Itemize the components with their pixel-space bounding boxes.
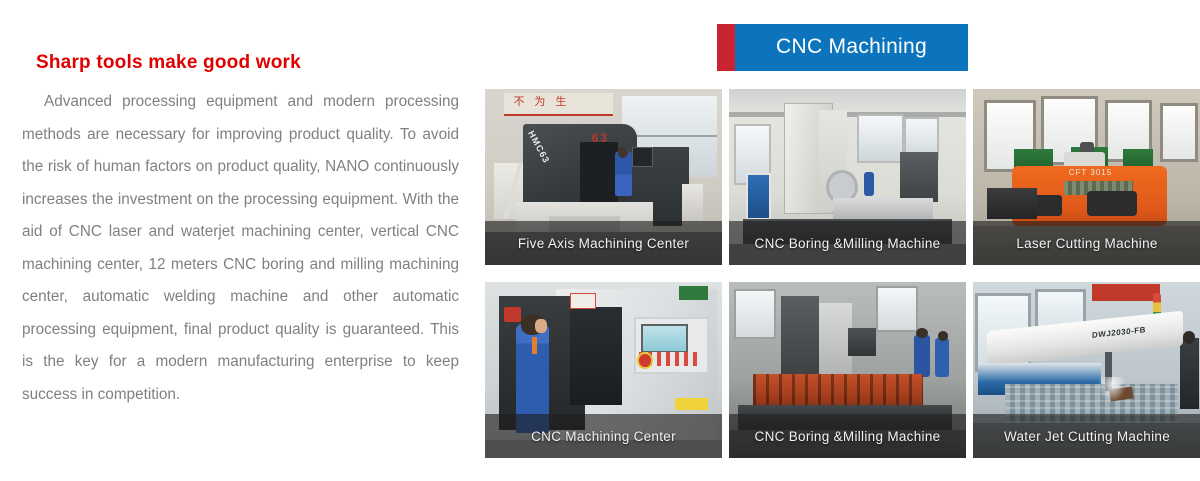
photo-caption-bar: Water Jet Cutting Machine [973,414,1200,458]
machine-photo-grid: 不为生 HMC63 63 Five Axis Machining Center [484,88,1200,459]
section-heading: Sharp tools make good work [36,50,462,76]
photo-caption: Laser Cutting Machine [1016,236,1157,251]
photo-caption: CNC Boring &Milling Machine [755,429,941,444]
photo-card-laser-cutting-machine[interactable]: CFT 3015 Laser Cutting Machine [972,88,1200,266]
photo-caption-bar: CNC Boring &Milling Machine [729,414,966,458]
banner-accent-bar [717,24,735,71]
photo-card-cnc-boring-milling-machine-1[interactable]: CNC Boring &Milling Machine [728,88,967,266]
photo-caption-bar: Five Axis Machining Center [485,221,722,265]
wall-banner-text: 不为生 [513,93,608,114]
photo-caption: Five Axis Machining Center [518,236,689,251]
banner-body: CNC Machining [735,24,968,71]
photo-card-five-axis-machining-center[interactable]: 不为生 HMC63 63 Five Axis Machining Center [484,88,723,266]
intro-paragraph: Advanced processing equipment and modern… [22,86,459,411]
photo-caption: CNC Boring &Milling Machine [755,236,941,251]
photo-card-water-jet-cutting-machine[interactable]: DWJ2030-FB Water Jet Cutting Machine [972,281,1200,459]
photo-caption-bar: CNC Boring &Milling Machine [729,221,966,265]
photo-caption: Water Jet Cutting Machine [1004,429,1170,444]
intro-text-column: Sharp tools make good work Advanced proc… [22,50,462,411]
photo-caption: CNC Machining Center [531,429,676,444]
photo-card-cnc-boring-milling-machine-2[interactable]: CNC Boring &Milling Machine [728,281,967,459]
photo-caption-bar: Laser Cutting Machine [973,221,1200,265]
photo-caption-bar: CNC Machining Center [485,414,722,458]
banner-title: CNC Machining [776,35,927,61]
photo-card-cnc-machining-center[interactable]: CNC Machining Center [484,281,723,459]
machine-label-cft3015: CFT 3015 [1069,168,1112,177]
cnc-machining-banner: CNC Machining [717,24,968,71]
